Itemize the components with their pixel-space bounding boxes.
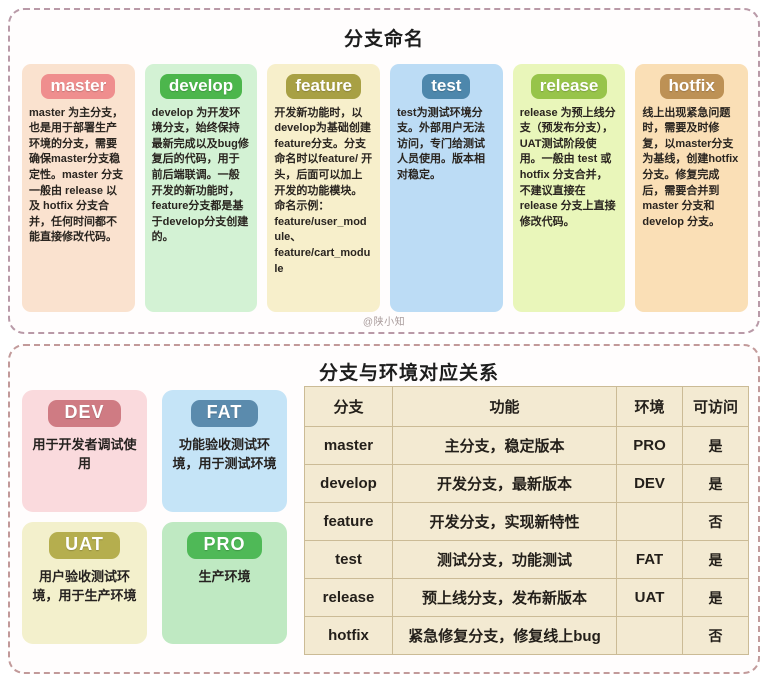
table-header-branch: 分支 (305, 387, 393, 427)
cell-function: 主分支，稳定版本 (393, 427, 617, 465)
watermark: @陕小知 (10, 313, 758, 328)
cell-function: 预上线分支，发布新版本 (393, 579, 617, 617)
table-row: test 测试分支，功能测试 FAT 是 (305, 541, 749, 579)
cell-access: 是 (683, 465, 749, 503)
env-description-dev: 用于开发者调试使用 (30, 435, 139, 473)
cell-branch: feature (305, 503, 393, 541)
cell-access: 是 (683, 541, 749, 579)
environment-cards-grid: DEV 用于开发者调试使用 FAT 功能验收测试环境，用于测试环境 UAT 用户… (22, 390, 290, 644)
cell-access: 是 (683, 579, 749, 617)
branch-description-master: master 为主分支，也是用于部署生产环境的分支，需要确保master分支稳定… (29, 106, 128, 246)
branch-badge-master: master (41, 74, 115, 99)
branch-cards-row: master master 为主分支，也是用于部署生产环境的分支，需要确保mas… (22, 64, 748, 312)
table-header-access: 可访问 (683, 387, 749, 427)
branch-card-master[interactable]: master master 为主分支，也是用于部署生产环境的分支，需要确保mas… (22, 64, 135, 312)
branch-environment-section: 分支与环境对应关系 DEV 用于开发者调试使用 FAT 功能验收测试环境，用于测… (8, 344, 760, 674)
env-card-dev[interactable]: DEV 用于开发者调试使用 (22, 390, 147, 512)
branch-badge-feature: feature (286, 74, 361, 99)
env-description-uat: 用户验收测试环境，用于生产环境 (30, 567, 139, 605)
cell-branch: release (305, 579, 393, 617)
branch-badge-hotfix: hotfix (660, 74, 724, 99)
table-header-env: 环境 (617, 387, 683, 427)
cell-function: 测试分支，功能测试 (393, 541, 617, 579)
env-badge-fat: FAT (191, 400, 259, 427)
env-badge-uat: UAT (49, 532, 120, 559)
table-row: feature 开发分支，实现新特性 否 (305, 503, 749, 541)
cell-branch: develop (305, 465, 393, 503)
branch-badge-test: test (422, 74, 470, 99)
env-description-fat: 功能验收测试环境，用于测试环境 (170, 435, 279, 473)
cell-function: 开发分支，最新版本 (393, 465, 617, 503)
branch-card-release[interactable]: release release 为预上线分支（预发布分支），UAT测试阶段使用。… (513, 64, 626, 312)
branch-naming-section: 分支命名 master master 为主分支，也是用于部署生产环境的分支，需要… (8, 8, 760, 334)
cell-branch: hotfix (305, 617, 393, 655)
branch-environment-table-wrap: 分支 功能 环境 可访问 master 主分支，稳定版本 PRO 是 devel… (304, 386, 752, 655)
branch-card-feature[interactable]: feature 开发新功能时，以develop为基础创建feature分支。分支… (267, 64, 380, 312)
section-title-environment: 分支与环境对应关系 (10, 358, 758, 385)
cell-env (617, 617, 683, 655)
branch-description-release: release 为预上线分支（预发布分支），UAT测试阶段使用。一般由 test… (520, 106, 619, 231)
env-card-uat[interactable]: UAT 用户验收测试环境，用于生产环境 (22, 522, 147, 644)
branch-description-test: test为测试环境分支。外部用户无法访问，专门给测试人员使用。版本相对稳定。 (397, 106, 496, 184)
env-description-pro: 生产环境 (170, 567, 279, 586)
cell-env: FAT (617, 541, 683, 579)
cell-env: DEV (617, 465, 683, 503)
branch-card-develop[interactable]: develop develop 为开发环境分支，始终保持最新完成以及bug修复后… (145, 64, 258, 312)
table-row: release 预上线分支，发布新版本 UAT 是 (305, 579, 749, 617)
table-row: master 主分支，稳定版本 PRO 是 (305, 427, 749, 465)
env-badge-pro: PRO (187, 532, 261, 559)
cell-access: 否 (683, 617, 749, 655)
branch-environment-table: 分支 功能 环境 可访问 master 主分支，稳定版本 PRO 是 devel… (304, 386, 749, 655)
cell-env (617, 503, 683, 541)
cell-env: UAT (617, 579, 683, 617)
branch-badge-release: release (531, 74, 608, 99)
branch-description-feature: 开发新功能时，以develop为基础创建feature分支。分支命名时以feat… (274, 106, 373, 278)
cell-function: 开发分支，实现新特性 (393, 503, 617, 541)
cell-branch: master (305, 427, 393, 465)
env-card-pro[interactable]: PRO 生产环境 (162, 522, 287, 644)
page-title: 分支命名 (10, 24, 758, 51)
branch-badge-develop: develop (160, 74, 242, 99)
branch-description-hotfix: 线上出现紧急问题时，需要及时修复，以master分支为基线，创建hotfix分支… (642, 106, 741, 231)
cell-env: PRO (617, 427, 683, 465)
table-header-function: 功能 (393, 387, 617, 427)
table-row: hotfix 紧急修复分支，修复线上bug 否 (305, 617, 749, 655)
branch-card-hotfix[interactable]: hotfix 线上出现紧急问题时，需要及时修复，以master分支为基线，创建h… (635, 64, 748, 312)
cell-branch: test (305, 541, 393, 579)
env-card-fat[interactable]: FAT 功能验收测试环境，用于测试环境 (162, 390, 287, 512)
table-header-row: 分支 功能 环境 可访问 (305, 387, 749, 427)
cell-access: 是 (683, 427, 749, 465)
cell-function: 紧急修复分支，修复线上bug (393, 617, 617, 655)
env-badge-dev: DEV (48, 400, 120, 427)
table-row: develop 开发分支，最新版本 DEV 是 (305, 465, 749, 503)
branch-description-develop: develop 为开发环境分支，始终保持最新完成以及bug修复后的代码，用于前后… (152, 106, 251, 246)
cell-access: 否 (683, 503, 749, 541)
branch-card-test[interactable]: test test为测试环境分支。外部用户无法访问，专门给测试人员使用。版本相对… (390, 64, 503, 312)
